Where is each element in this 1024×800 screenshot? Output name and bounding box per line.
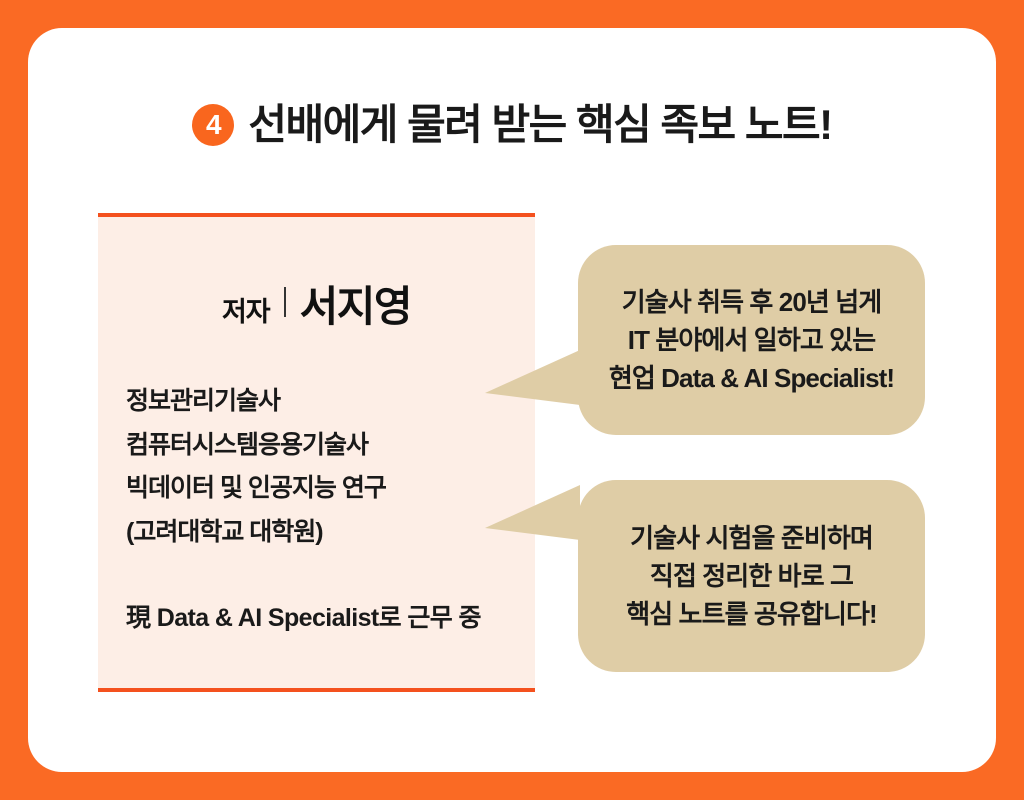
author-label: 저자 [222,290,270,329]
author-line: 저자 서지영 [98,273,535,334]
bubble-line: IT 분야에서 일하고 있는 [604,321,899,359]
list-item: 빅데이터 및 인공지능 연구 [126,467,535,511]
orange-frame: 4 선배에게 물려 받는 핵심 족보 노트! 저자 서지영 정보관리기술사 컴퓨… [0,0,1024,800]
list-item: 컴퓨터시스템응용기술사 [126,424,535,468]
bubble-line: 기술사 시험을 준비하며 [604,519,899,557]
page-title: 4 선배에게 물려 받는 핵심 족보 노트! [28,104,996,146]
bubble-line: 직접 정리한 바로 그 [604,557,899,595]
step-number-badge: 4 [192,104,234,146]
speech-bubble-2: 기술사 시험을 준비하며 직접 정리한 바로 그 핵심 노트를 공유합니다! [578,480,925,672]
author-name: 서지영 [300,273,411,334]
bubble-line: 핵심 노트를 공유합니다! [604,595,899,633]
white-card: 4 선배에게 물려 받는 핵심 족보 노트! 저자 서지영 정보관리기술사 컴퓨… [28,28,996,772]
bubble-line: 현업 Data & AI Specialist! [604,359,899,397]
current-role-text: 現 Data & AI Specialist로 근무 중 [126,598,535,634]
credential-list: 정보관리기술사 컴퓨터시스템응용기술사 빅데이터 및 인공지능 연구 (고려대학… [126,380,535,554]
page-title-text: 선배에게 물려 받는 핵심 족보 노트! [248,104,831,146]
speech-bubble-1: 기술사 취득 후 20년 넘게 IT 분야에서 일하고 있는 현업 Data &… [578,245,925,435]
speech-bubble-tail-2 [485,485,580,540]
list-item: (고려대학교 대학원) [126,511,535,555]
speech-bubble-tail-1 [485,350,580,405]
list-item: 정보관리기술사 [126,380,535,424]
divider [284,287,286,317]
author-profile-panel: 저자 서지영 정보관리기술사 컴퓨터시스템응용기술사 빅데이터 및 인공지능 연… [98,213,535,692]
bubble-line: 기술사 취득 후 20년 넘게 [604,283,899,321]
